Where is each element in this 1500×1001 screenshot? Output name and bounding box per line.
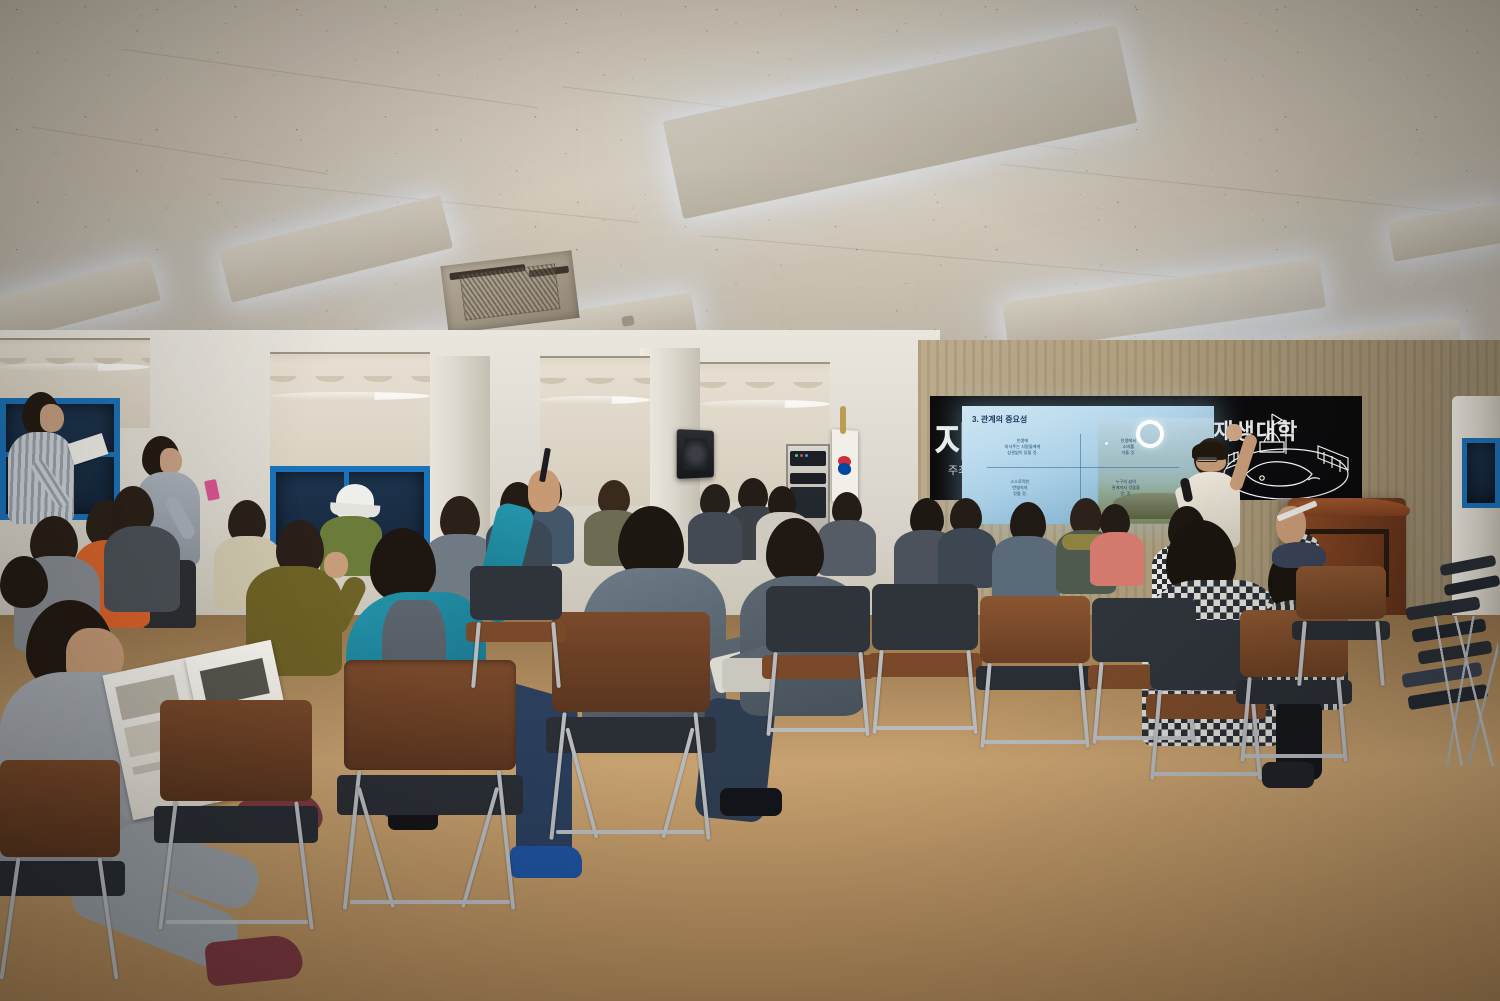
navy-beret-cap xyxy=(1272,542,1326,568)
attendee-shoe xyxy=(1262,762,1314,788)
attendee-hand xyxy=(324,552,348,578)
flag-pole xyxy=(840,406,846,434)
staff-right-face xyxy=(160,448,182,474)
attendee-torso xyxy=(1090,532,1144,586)
av-rack-unit-2 xyxy=(790,473,825,484)
folding-chair[interactable] xyxy=(0,760,120,980)
quadrant-top-right: 인생에서 소비를 거둘 것. xyxy=(1088,438,1169,456)
folding-chair[interactable] xyxy=(980,596,1090,748)
quadrant-bottom-right: 누구의 삶의 관계까지 것들을 것. 것. xyxy=(1083,479,1169,497)
presenter-raised-hand xyxy=(1226,424,1242,441)
attendee-torso xyxy=(818,520,876,576)
slide-axis-horizontal xyxy=(987,467,1179,468)
stacked-folding-chairs-rear[interactable] xyxy=(1440,560,1500,670)
folding-chair[interactable] xyxy=(552,612,710,840)
slide-title: 3. 관계의 중요성 xyxy=(972,414,1027,425)
lecture-room-photo: 지구 주최. 통영시 도시 시재생대학 일 2 xyxy=(0,0,1500,1001)
attendee-shoe xyxy=(510,846,582,878)
folding-chair[interactable] xyxy=(766,586,870,736)
attendee-shoe xyxy=(720,788,782,816)
quadrant-top-left: 인생에 의식주는 사람들에게 상관없이 있을 것. xyxy=(977,438,1068,456)
window-right xyxy=(1462,438,1500,508)
folding-chair[interactable] xyxy=(160,700,312,930)
attendee-torso xyxy=(688,512,742,564)
attendee-head xyxy=(0,556,48,608)
folding-chair[interactable] xyxy=(344,660,516,910)
folding-chair[interactable] xyxy=(470,566,562,688)
folding-chair[interactable] xyxy=(1296,566,1386,686)
quadrant-bottom-left: 스스로적인 번영속의 것을 것. xyxy=(977,479,1063,497)
attendee-torso xyxy=(938,528,996,588)
folding-chair[interactable] xyxy=(872,584,978,734)
attendee-torso xyxy=(104,526,180,612)
staff-left-face xyxy=(40,404,64,432)
sprinkler-head xyxy=(621,315,634,327)
wall-speaker xyxy=(677,429,714,479)
presenter-glasses xyxy=(1196,456,1218,462)
